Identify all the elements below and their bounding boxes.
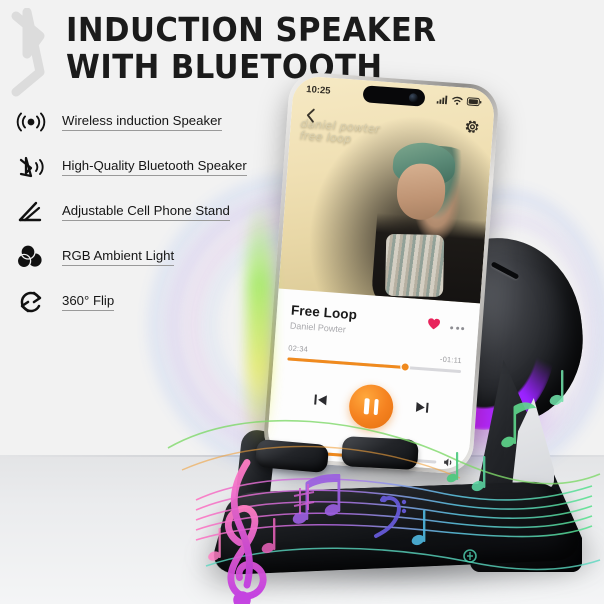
track-actions xyxy=(427,313,466,338)
album-artwork: daniel powter free loop 10:25 xyxy=(279,75,496,303)
transport-controls xyxy=(283,378,460,435)
track-meta: Free Loop Daniel Powter xyxy=(290,303,429,341)
phone-frame: daniel powter free loop 10:25 xyxy=(262,71,500,475)
chevron-left-icon[interactable] xyxy=(303,106,318,128)
more-dots-icon[interactable] xyxy=(450,326,464,330)
album-art-collar xyxy=(385,234,444,297)
stand-arm-right xyxy=(341,436,418,470)
status-icons xyxy=(437,94,483,106)
heart-icon[interactable] xyxy=(427,317,441,336)
cellular-signal-icon xyxy=(437,94,449,104)
wifi-icon xyxy=(452,95,464,105)
volume-high-icon xyxy=(443,454,455,471)
smartphone: daniel powter free loop 10:25 xyxy=(262,71,500,475)
status-time: 10:25 xyxy=(306,84,331,97)
product-photo: Induction daniel powter free loop xyxy=(0,0,604,604)
gear-icon[interactable] xyxy=(464,119,480,140)
elapsed-time: 02:34 xyxy=(288,343,308,353)
progress-knob[interactable] xyxy=(402,364,409,371)
front-camera-icon xyxy=(409,93,419,103)
pause-icon[interactable] xyxy=(348,383,395,430)
remaining-time: -01:11 xyxy=(440,355,463,366)
skip-next-icon[interactable] xyxy=(414,400,429,420)
phone-edge-glow xyxy=(246,200,272,450)
stand-base xyxy=(208,481,587,576)
track-info-row: Free Loop Daniel Powter xyxy=(290,303,466,344)
skip-previous-icon[interactable] xyxy=(313,392,328,412)
dynamic-island xyxy=(362,85,425,106)
phone-screen: daniel powter free loop 10:25 xyxy=(266,75,495,471)
battery-icon xyxy=(467,96,483,106)
